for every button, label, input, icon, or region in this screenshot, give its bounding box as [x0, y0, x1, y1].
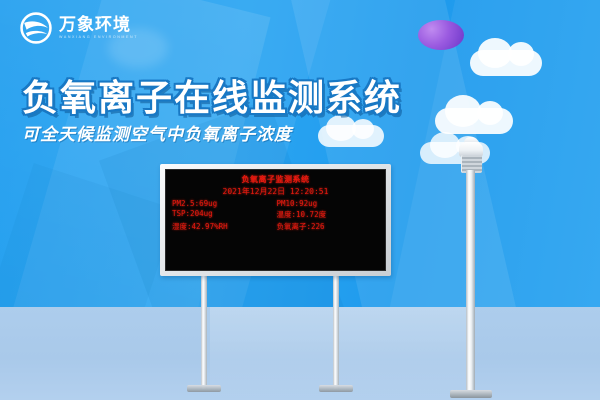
billboard-leg-right	[333, 276, 339, 389]
poster-canvas: 万象环境 WANXIANG ENVIRONMENT 负氧离子在线监测系统 可全天…	[0, 0, 600, 400]
sensor-base	[450, 390, 492, 398]
led-reading-humid: 湿度:42.97%RH	[172, 221, 275, 232]
globe-swoosh-icon	[19, 11, 53, 45]
billboard-leg-left	[201, 276, 207, 389]
page-subtitle: 可全天候监测空气中负氧离子浓度	[22, 120, 292, 145]
brand-name-en: WANXIANG ENVIRONMENT	[59, 36, 138, 40]
brand-logo: 万象环境 WANXIANG ENVIRONMENT	[19, 11, 138, 45]
sensor-pole	[466, 170, 475, 394]
led-screen-title: 负氧离子监测系统	[166, 174, 385, 185]
ground-plane	[0, 307, 600, 400]
led-readings: PM2.5:69ug PM10:92ug TSP:204ug 温度:10.72度…	[166, 199, 385, 232]
billboard-foot-left	[187, 385, 221, 392]
led-screen: 负氧离子监测系统 2021年12月22日 12:20:51 PM2.5:69ug…	[165, 169, 386, 271]
led-reading-temp: 温度:10.72度	[277, 209, 380, 220]
led-datetime: 2021年12月22日 12:20:51	[166, 186, 385, 197]
led-billboard: 负氧离子监测系统 2021年12月22日 12:20:51 PM2.5:69ug…	[160, 164, 391, 276]
brand-name-cn: 万象环境	[59, 16, 138, 33]
led-reading-anion: 负氧离子:226	[277, 221, 380, 232]
billboard-frame: 负氧离子监测系统 2021年12月22日 12:20:51 PM2.5:69ug…	[160, 164, 391, 276]
led-reading-pm10: PM10:92ug	[277, 199, 380, 208]
cloud	[435, 108, 513, 134]
cloud	[470, 50, 542, 76]
led-reading-tsp: TSP:204ug	[172, 209, 275, 220]
purple-orb	[418, 20, 464, 50]
cloud	[318, 125, 384, 147]
page-title: 负氧离子在线监测系统	[22, 69, 402, 121]
billboard-foot-right	[319, 385, 353, 392]
brand-text: 万象环境 WANXIANG ENVIRONMENT	[59, 16, 138, 40]
led-reading-pm25: PM2.5:69ug	[172, 199, 275, 208]
